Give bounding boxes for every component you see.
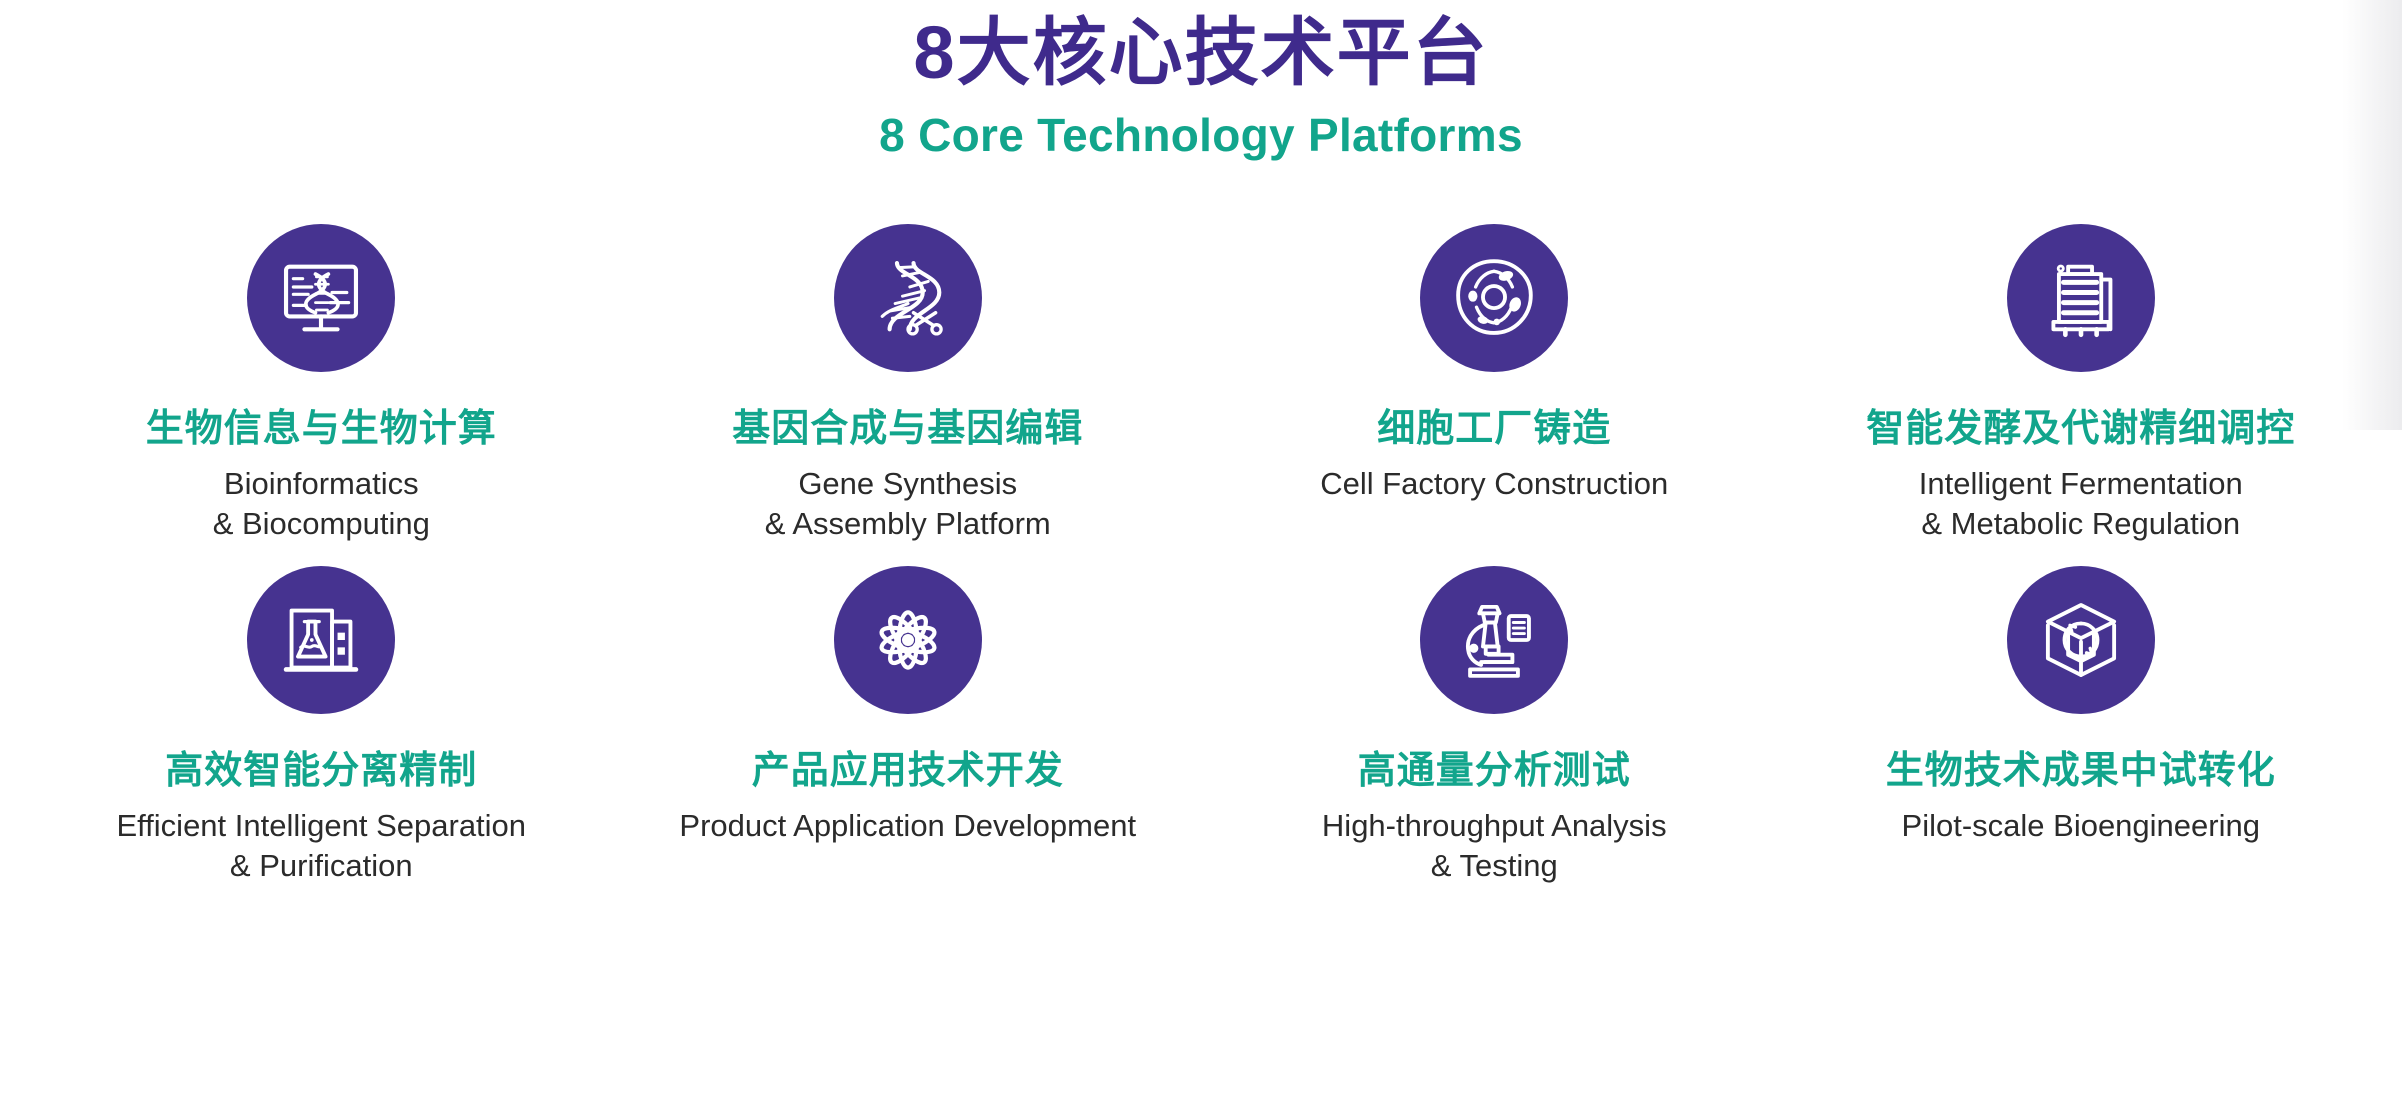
platform-label-english: Intelligent Fermentation & Metabolic Reg… xyxy=(1919,464,2243,543)
platform-label-english-line1: Bioinformatics xyxy=(213,464,430,504)
platform-label-english-line2: & Assembly Platform xyxy=(765,504,1051,544)
platform-label-chinese: 智能发酵及代谢精细调控 xyxy=(1866,408,2295,452)
cube-recycle-icon xyxy=(2007,566,2155,714)
platform-label-chinese: 细胞工厂铸造 xyxy=(1377,408,1611,452)
platform-label-english-line1: Gene Synthesis xyxy=(765,464,1051,504)
platform-label-chinese: 高通量分析测试 xyxy=(1358,750,1631,794)
platform-label-english-line2: & Testing xyxy=(1322,846,1667,886)
slide-root: 8大核心技术平台 8 Core Technology Platforms xyxy=(0,0,2402,1102)
platform-label-english-line1: Intelligent Fermentation xyxy=(1919,464,2243,504)
microscope-report-icon xyxy=(1420,566,1568,714)
platform-label-english: Product Application Development xyxy=(679,806,1136,846)
platform-label-english: Bioinformatics & Biocomputing xyxy=(213,464,430,543)
platform-label-english-line2: & Purification xyxy=(116,846,526,886)
page-title-chinese: 8大核心技术平台 xyxy=(0,14,2402,92)
platform-card-bioinformatics[interactable]: 生物信息与生物计算 Bioinformatics & Biocomputing xyxy=(28,224,615,544)
platform-label-english-line1: Cell Factory Construction xyxy=(1320,464,1668,504)
platform-label-chinese: 基因合成与基因编辑 xyxy=(732,408,1083,452)
platform-label-english: Pilot-scale Bioengineering xyxy=(1902,806,2260,846)
platform-label-chinese: 产品应用技术开发 xyxy=(752,750,1064,794)
platform-label-chinese: 高效智能分离精制 xyxy=(165,750,477,794)
platform-label-english-line2: & Biocomputing xyxy=(213,504,430,544)
page-heading: 8大核心技术平台 8 Core Technology Platforms xyxy=(0,14,2402,162)
platform-label-english-line1: Efficient Intelligent Separation xyxy=(116,806,526,846)
platform-label-english: High-throughput Analysis & Testing xyxy=(1322,806,1667,885)
platform-label-chinese: 生物信息与生物计算 xyxy=(146,408,497,452)
platform-card-gene-synthesis[interactable]: 基因合成与基因编辑 Gene Synthesis & Assembly Plat… xyxy=(615,224,1202,544)
platform-label-english: Cell Factory Construction xyxy=(1320,464,1668,504)
platform-card-product-application[interactable]: 产品应用技术开发 Product Application Development xyxy=(615,566,1202,886)
flask-cabinet-icon xyxy=(247,566,395,714)
platform-grid: 生物信息与生物计算 Bioinformatics & Biocomputing xyxy=(0,224,2402,886)
monitor-dna-icon xyxy=(247,224,395,372)
page-subtitle-english: 8 Core Technology Platforms xyxy=(0,108,2402,162)
platform-card-high-throughput-analysis[interactable]: 高通量分析测试 High-throughput Analysis & Testi… xyxy=(1201,566,1788,886)
platform-label-english-line2: & Metabolic Regulation xyxy=(1919,504,2243,544)
platform-label-english-line1: Pilot-scale Bioengineering xyxy=(1902,806,2260,846)
platform-card-separation-purification[interactable]: 高效智能分离精制 Efficient Intelligent Separatio… xyxy=(28,566,615,886)
platform-label-english: Efficient Intelligent Separation & Purif… xyxy=(116,806,526,885)
dna-scissors-icon xyxy=(834,224,982,372)
cell-organelle-icon xyxy=(1420,224,1568,372)
platform-card-fermentation[interactable]: 智能发酵及代谢精细调控 Intelligent Fermentation & M… xyxy=(1788,224,2375,544)
platform-card-pilot-scale[interactable]: 生物技术成果中试转化 Pilot-scale Bioengineering xyxy=(1788,566,2375,886)
platform-label-english: Gene Synthesis & Assembly Platform xyxy=(765,464,1051,543)
platform-card-cell-factory[interactable]: 细胞工厂铸造 Cell Factory Construction xyxy=(1201,224,1788,544)
platform-label-english-line1: Product Application Development xyxy=(679,806,1136,846)
atom-icon xyxy=(834,566,982,714)
platform-label-chinese: 生物技术成果中试转化 xyxy=(1886,750,2276,794)
platform-label-english-line1: High-throughput Analysis xyxy=(1322,806,1667,846)
fermentation-tank-icon xyxy=(2007,224,2155,372)
